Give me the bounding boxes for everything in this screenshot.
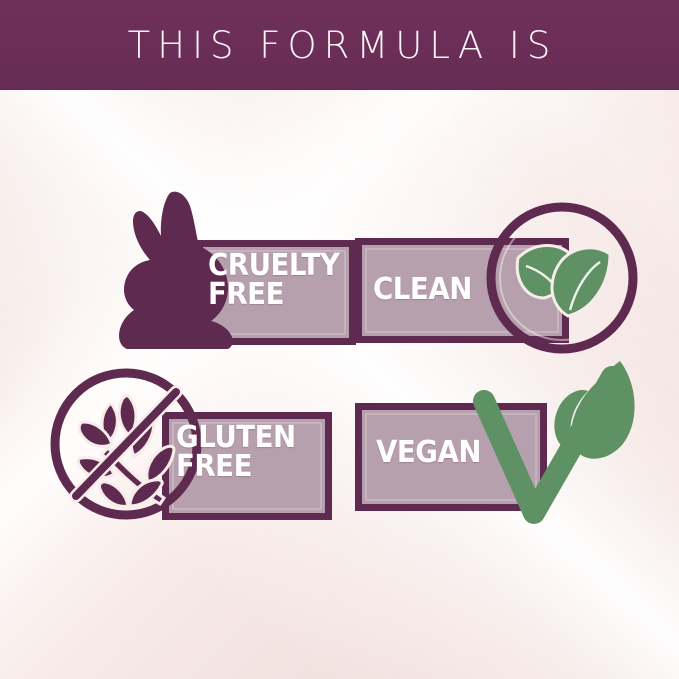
page-title: THIS FORMULA IS xyxy=(122,24,558,67)
badge-label-gluten-free: GLUTEN FREE xyxy=(176,424,323,482)
header-banner: THIS FORMULA IS xyxy=(0,0,679,90)
badge-gluten-free: GLUTEN FREE xyxy=(46,362,336,532)
badge-label-clean: CLEAN xyxy=(373,276,539,305)
badge-cruelty-free: CRUELTY FREE xyxy=(108,190,368,355)
badge-vegan: VEGAN xyxy=(352,355,652,545)
infographic-canvas: THIS FORMULA IS CRUELTY FREE xyxy=(0,0,679,679)
badge-label-vegan: VEGAN xyxy=(376,439,542,468)
badge-clean: CLEAN xyxy=(352,198,642,358)
badge-grid: CRUELTY FREE CLEAN xyxy=(0,90,679,679)
badge-label-cruelty-free: CRUELTY FREE xyxy=(208,252,346,310)
